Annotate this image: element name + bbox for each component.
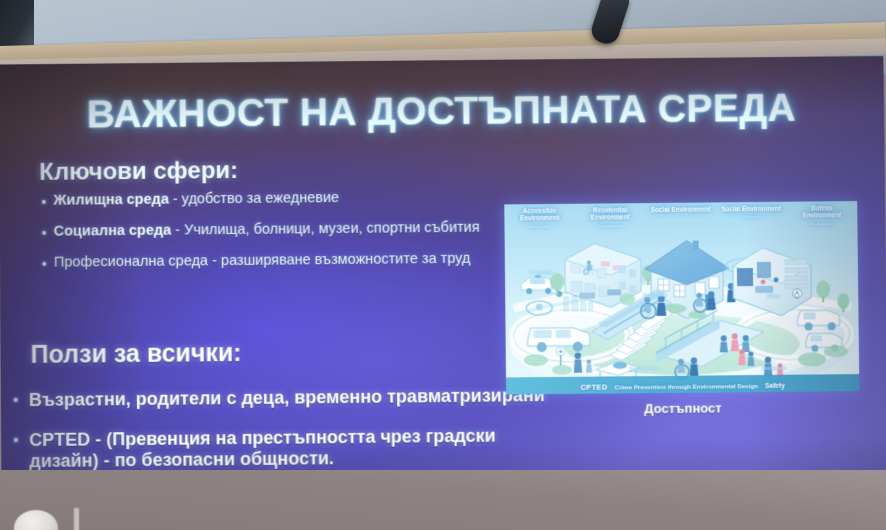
key-areas-bullet-list: • Жилищна среда - удобство за ежедневие … — [41, 188, 492, 285]
wall-below-screen — [0, 470, 886, 530]
list-item-rest: - Училища, болници, музеи, спортни събит… — [171, 220, 480, 239]
list-item-rest: CPTED - (Превенция на престъпността чрез… — [29, 426, 496, 472]
list-item: • Жилищна среда - удобство за ежедневие — [41, 188, 491, 212]
bullet-dot-icon: • — [42, 223, 54, 243]
list-item: • Социална среда - Училища, болници, муз… — [42, 219, 492, 243]
list-item: • CPTED - (Превенция на престъпността чр… — [13, 425, 559, 472]
wall-object-bar — [74, 508, 79, 530]
list-item-lead: Жилищна среда — [53, 192, 169, 209]
projected-slide: ВАЖНОСТ НА ДОСТЪПНАТА СРЕДА Ключови сфер… — [0, 56, 886, 496]
image-caption: Достъпност — [506, 399, 859, 417]
bullet-dot-icon: • — [13, 390, 29, 412]
room-photo-backdrop: ВАЖНОСТ НА ДОСТЪПНАТА СРЕДА Ключови сфер… — [0, 0, 886, 530]
list-item-text: Социална среда - Училища, болници, музеи… — [54, 219, 480, 241]
list-item-text: CPTED - (Превенция на престъпността чрез… — [29, 425, 559, 472]
section-heading-benefits: Ползи за всички: — [30, 339, 241, 370]
list-item: • Възрастни, родители с деца, временно т… — [13, 385, 559, 412]
section-heading-key-areas: Ключови сфери: — [39, 157, 238, 187]
bullet-dot-icon: • — [13, 430, 29, 452]
list-item-lead: Социална среда — [54, 223, 172, 240]
list-item: • Професионална среда - разширяване възм… — [42, 250, 492, 274]
bullet-dot-icon: • — [41, 192, 53, 212]
list-item-rest: Професионална среда - разширяване възмож… — [54, 251, 471, 271]
slide-title: ВАЖНОСТ НА ДОСТЪПНАТА СРЕДА — [87, 87, 797, 138]
list-item-rest: Възрастни, родители с деца, временно тра… — [29, 385, 545, 410]
accessible-environment-illustration: Accessible EnvironmentAccessible Residen… — [504, 201, 859, 394]
list-item-text: Жилищна среда - удобство за ежедневие — [53, 189, 339, 210]
list-item-text: Възрастни, родители с деца, временно тра… — [29, 385, 545, 411]
isometric-city-scene-icon — [504, 201, 859, 394]
list-item-text: Професионална среда - разширяване възмож… — [54, 250, 471, 272]
list-item-rest: - удобство за ежедневие — [169, 190, 339, 208]
illustration-container: Accessible EnvironmentAccessible Residen… — [504, 201, 859, 394]
bullet-dot-icon: • — [42, 254, 54, 274]
